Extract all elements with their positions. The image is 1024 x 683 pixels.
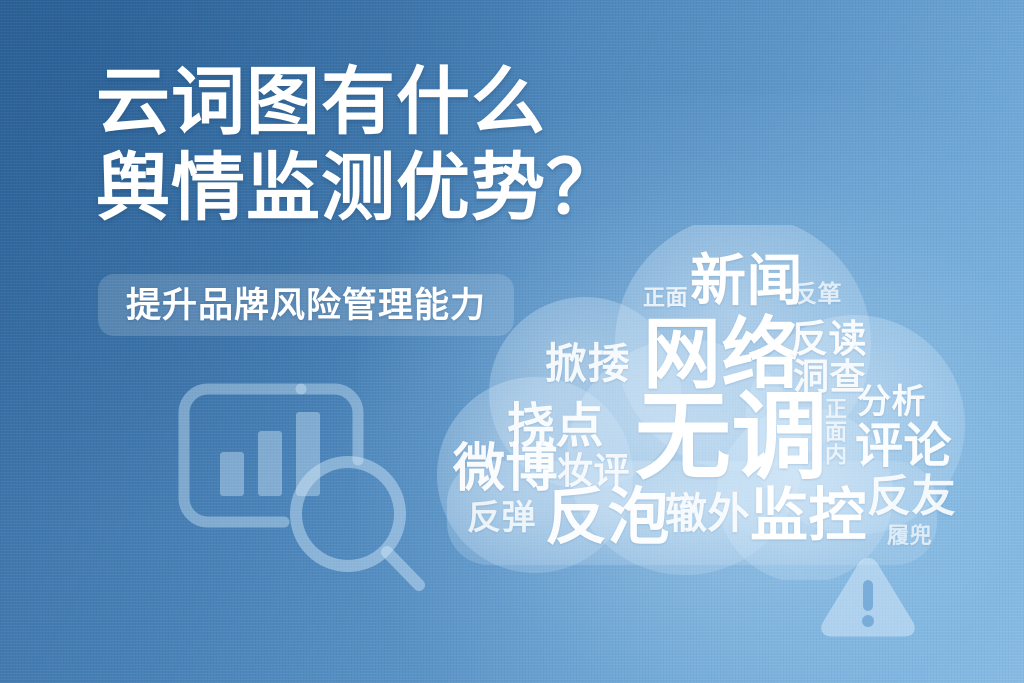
page-title: 云词图有什么 舆情监测优势？ [96,62,621,228]
word-cloud-word: 反泡 [545,487,670,549]
word-cloud-word: 反读 [790,321,867,359]
word-cloud-word: 反箪 [793,283,842,307]
page-title-line-1: 云词图有什么 [96,62,621,142]
word-cloud-word: 新闻 [690,253,803,309]
word-cloud-word: 履兜 [887,525,932,547]
word-cloud-word: 辙外 [665,493,750,535]
word-cloud-word: 分析 [857,385,926,419]
word-cloud-word: 评论 [855,423,952,471]
page-title-line-2: 舆情监测优势？ [96,148,621,228]
warning-triangle-icon [812,550,924,640]
subtitle-badge: 提升品牌风险管理能力 [98,274,514,336]
word-cloud-word: 正面内 [823,397,845,466]
word-cloud-word: 正面 [643,287,688,309]
word-cloud-word: 微博 [453,443,558,495]
word-cloud-word: 掀捼 [545,343,630,385]
word-cloud-word: 反弹 [467,501,536,535]
subtitle-label: 提升品牌风险管理能力 [126,288,486,323]
bar-chart-search-icon [166,374,446,606]
poster-canvas: 云词图有什么 舆情监测优势？ 提升品牌风险管理能力 [0,0,1024,683]
word-cloud-word: 反友 [867,475,956,519]
word-cloud-word: 无调 [635,390,828,486]
word-cloud-word: 网络 [643,315,800,393]
word-cloud-word: 监控 [750,487,867,545]
